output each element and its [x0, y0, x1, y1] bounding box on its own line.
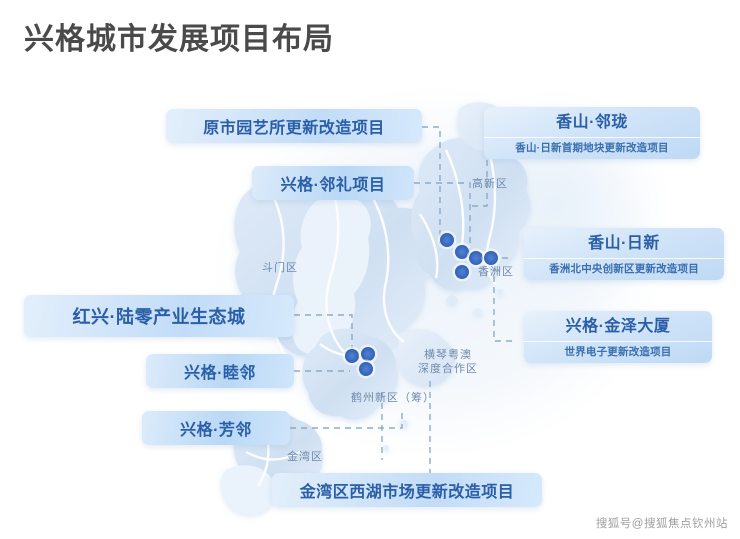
label-xingge-lingli-project[interactable]: 兴格·邻礼项目: [252, 166, 414, 200]
map-region-gaoxin: 高新区: [472, 178, 508, 192]
map-marker-dot[interactable]: [345, 349, 359, 363]
label-jinwan-xihu-market[interactable]: 金湾区西湖市场更新改造项目: [272, 473, 542, 507]
map-marker-dot[interactable]: [455, 265, 469, 279]
project-title: 香山·邻珑: [484, 108, 700, 138]
project-title: 香山·日新: [524, 229, 724, 259]
map-region-doumen: 斗门区: [262, 262, 298, 276]
project-card-xiangshan-linglong[interactable]: 香山·邻珑 香山·日新首期地块更新改造项目: [484, 107, 700, 159]
map-marker-dot[interactable]: [440, 233, 454, 247]
map-marker-dot[interactable]: [469, 251, 483, 265]
map-region-hezhou: 鹤州新区（筹）: [351, 392, 435, 406]
map-marker-dot[interactable]: [361, 347, 375, 361]
map-marker-dot[interactable]: [484, 251, 498, 265]
label-text: 金湾区西湖市场更新改造项目: [300, 478, 515, 502]
project-subtitle: 香洲北中央创新区更新改造项目: [524, 259, 724, 280]
project-card-xiangshan-rixin[interactable]: 香山·日新 香洲北中央创新区更新改造项目: [524, 228, 724, 280]
label-xingge-mulin[interactable]: 兴格·睦邻: [146, 354, 294, 388]
project-subtitle: 世界电子更新改造项目: [524, 342, 712, 363]
label-xingge-fanglin[interactable]: 兴格·芳邻: [142, 411, 290, 445]
poster-canvas: 兴格城市发展项目布局: [0, 0, 740, 539]
label-hongxing-luling-ecocity[interactable]: 红兴·陆零产业生态城: [24, 295, 294, 337]
label-text: 原市园艺所更新改造项目: [203, 114, 385, 138]
watermark: 搜狐号@搜狐焦点钦州站: [596, 515, 728, 531]
map-marker-dot[interactable]: [359, 362, 373, 376]
label-yuanshi-yuanyi-project[interactable]: 原市园艺所更新改造项目: [166, 109, 422, 143]
label-text: 兴格·芳邻: [180, 416, 252, 440]
map-region-jinwan: 金湾区: [287, 451, 323, 465]
project-title: 兴格·金泽大厦: [524, 312, 712, 342]
map-region-hengqin: 横琴粤澳 深度合作区: [418, 349, 478, 377]
project-card-xingge-jinze[interactable]: 兴格·金泽大厦 世界电子更新改造项目: [524, 311, 712, 363]
label-text: 兴格·睦邻: [184, 359, 256, 383]
label-text: 兴格·邻礼项目: [281, 171, 386, 195]
label-text: 红兴·陆零产业生态城: [73, 303, 246, 329]
map-region-xiangzhou: 香洲区: [478, 266, 514, 280]
project-subtitle: 香山·日新首期地块更新改造项目: [484, 138, 700, 159]
